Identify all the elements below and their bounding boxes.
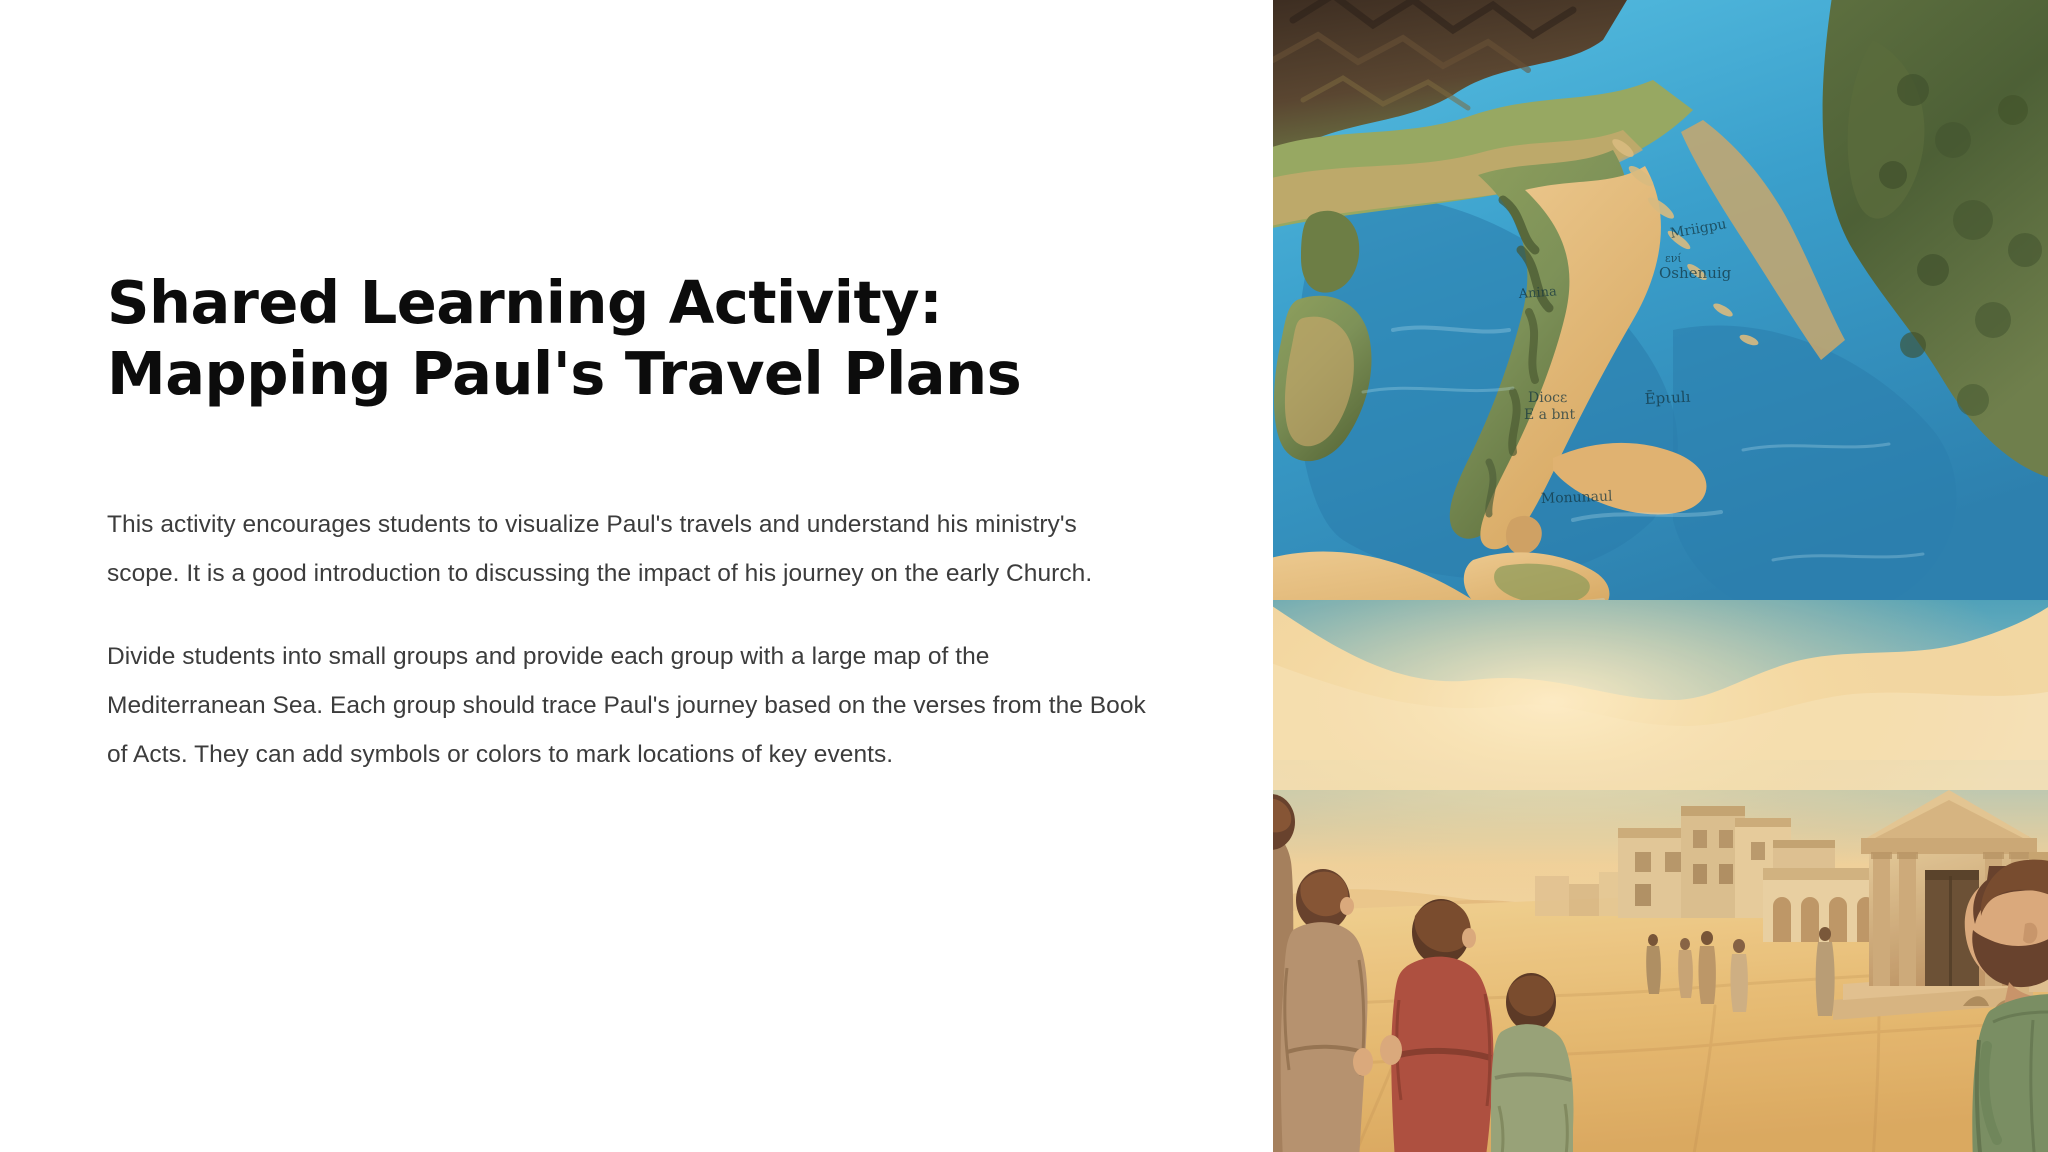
body-text-block: This activity encourages students to vis… xyxy=(107,500,1152,779)
body-paragraph-1: This activity encourages students to vis… xyxy=(107,500,1152,598)
svg-text:Diocε: Diocε xyxy=(1528,390,1567,406)
svg-text:E a bnt: E a bnt xyxy=(1524,407,1575,423)
svg-text:Anina: Anina xyxy=(1517,284,1557,302)
mediterranean-map-region: Anina Diocε E a bnt Ēpιulı Monunaul Mrii… xyxy=(1273,0,2048,660)
illustration-panel: Anina Diocε E a bnt Ēpιulı Monunaul Mrii… xyxy=(1273,0,2048,1152)
page-title-line-2: Mapping Paul's Travel Plans xyxy=(107,339,1021,408)
page-title-line-1: Shared Learning Activity: xyxy=(107,268,942,337)
svg-text:Monunaul: Monunaul xyxy=(1541,488,1614,507)
ancient-city-plaza-scene xyxy=(1273,600,2048,1152)
svg-text:Oshenuig: Oshenuig xyxy=(1659,264,1732,282)
body-paragraph-2: Divide students into small groups and pr… xyxy=(107,632,1152,779)
page-title: Shared Learning Activity:Mapping Paul's … xyxy=(107,268,1147,410)
scene-warm-wash xyxy=(1273,600,2048,1152)
slide-root: Shared Learning Activity:Mapping Paul's … xyxy=(0,0,2048,1152)
text-panel: Shared Learning Activity:Mapping Paul's … xyxy=(0,0,1273,1152)
mediterranean-map-and-ancient-city-illustration: Anina Diocε E a bnt Ēpιulı Monunaul Mrii… xyxy=(1273,0,2048,1152)
svg-text:Ēpιulı: Ēpιulı xyxy=(1644,388,1691,408)
